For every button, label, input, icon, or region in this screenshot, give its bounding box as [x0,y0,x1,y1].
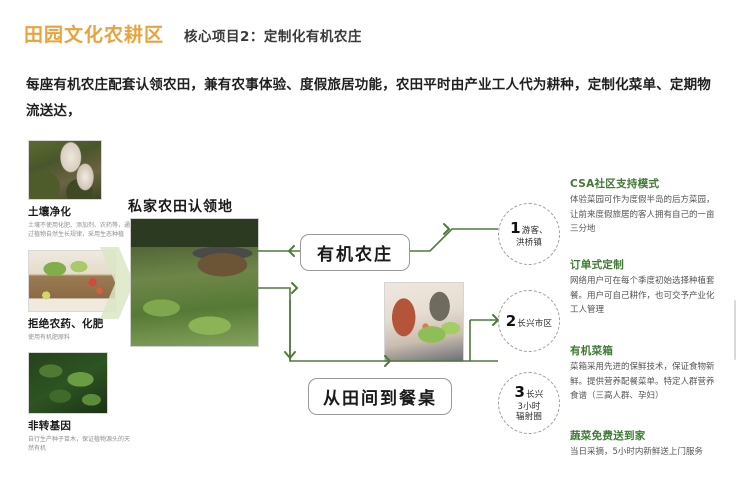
page-title: 田园文化农耕区 [24,20,164,47]
block-heading: 有机菜箱 [570,343,722,358]
block-heading: 蔬菜免费送到家 [570,428,722,443]
market-circle-3: 3 长兴 3小时 辐射圈 [498,372,560,434]
green-leaves-photo [28,352,108,414]
circle-number: 2 [506,312,517,331]
page-subtitle: 核心项目2：定制化有机农庄 [184,25,362,45]
circle-label-line3: 辐射圈 [516,412,542,423]
feature-item-non-gmo: 非转基因 自行生产种子苗木，保证植物源头的天然有机 [28,352,140,454]
feature-title: 非转基因 [28,418,140,433]
market-circle-1: 1 游客、 洪桥镇 [498,203,560,265]
block-body: 菜箱采用先进的保鲜技术，保证食物新鲜。提供营养配餐菜单。特定人群营养食谱（三高人… [570,360,722,404]
market-circle-2: 2 长兴市区 [498,290,560,352]
circle-number: 3 [514,383,525,402]
info-block-organic-box: 有机菜箱 菜箱采用先进的保鲜技术，保证食物新鲜。提供营养配餐菜单。特定人群营养食… [570,343,722,404]
feature-desc: 自行生产种子苗木，保证植物源头的天然有机 [28,435,132,454]
block-body: 体验菜园可作为度假半岛的后方菜园，让前来度假旅居的客人拥有自己的一亩三分地 [570,193,722,237]
block-body: 当日采摘，5小时内新鲜送上门服务 [570,445,722,460]
slide-canvas: 田园文化农耕区 核心项目2：定制化有机农庄 每座有机农庄配套认领农田，兼有农事体… [0,0,740,492]
feature-item-soil: 土壤净化 土壤不使用化肥、添加剂、农药等，通过植物自然生长规律，采用生态种植 [28,140,140,240]
circle-label-line2: 洪桥镇 [516,238,542,249]
feature-desc: 使用有机肥原料 [28,333,132,342]
circle-label-line1: 游客、 [522,226,548,237]
page-edge-marker [734,300,736,360]
circle-number: 1 [510,219,521,238]
pill-organic-farm[interactable]: 有机农庄 [300,234,410,271]
circle-label-line1: 长兴市区 [517,319,552,330]
feature-desc: 土壤不使用化肥、添加剂、农药等，通过植物自然生长规律，采用生态种植 [28,221,132,240]
pill-farm-to-table[interactable]: 从田间到餐桌 [308,378,452,415]
vegetable-basket-photo [28,250,116,312]
block-heading: 订单式定制 [570,257,722,272]
lead-paragraph: 每座有机农庄配套认领农田，兼有农事体验、度假旅居功能，农田平时由产业工人代为耕种… [26,72,714,125]
info-block-free-delivery: 蔬菜免费送到家 当日采摘，5小时内新鲜送上门服务 [570,428,722,460]
info-block-csa: CSA社区支持模式 体验菜园可作为度假半岛的后方菜园，让前来度假旅居的客人拥有自… [570,176,722,237]
family-dining-photo [384,282,464,362]
circle-label-line1: 长兴 [526,390,543,401]
feature-title: 拒绝农药、化肥 [28,316,140,331]
slide-header: 田园文化农耕区 核心项目2：定制化有机农庄 [24,20,362,47]
circle-label-line2: 3小时 [517,402,540,413]
block-body: 网络用户可在每个季度初始选择种植套餐。用户可自己耕作，也可交予产业化工人管理 [570,274,722,318]
section-title-private-farm: 私家农田认领地 [128,196,233,216]
private-farm-plot-photo [130,218,259,347]
info-block-custom-order: 订单式定制 网络用户可在每个季度初始选择种植套餐。用户可自己耕作，也可交予产业化… [570,257,722,318]
soil-purification-photo [28,140,102,200]
feature-title: 土壤净化 [28,204,140,219]
block-heading: CSA社区支持模式 [570,176,722,191]
